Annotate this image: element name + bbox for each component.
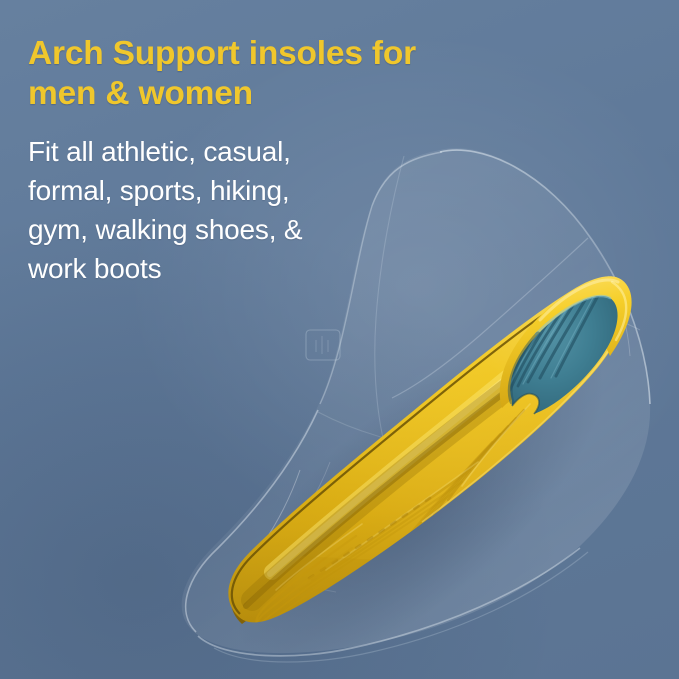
subcopy-line-3: gym, walking shoes, & (28, 210, 548, 249)
subcopy-line-2: formal, sports, hiking, (28, 171, 548, 210)
headline-line-2: men & women (28, 74, 548, 114)
subheading: Fit all athletic, casual, formal, sports… (28, 132, 548, 288)
subcopy-line-1: Fit all athletic, casual, (28, 132, 548, 171)
page-title: Arch Support insoles for men & women (28, 34, 548, 114)
subcopy-line-4: work boots (28, 249, 548, 288)
product-listing-image: Arch Support insoles for men & women Fit… (0, 0, 679, 679)
marketing-copy: Arch Support insoles for men & women Fit… (28, 34, 548, 288)
headline-line-1: Arch Support insoles for (28, 34, 548, 74)
